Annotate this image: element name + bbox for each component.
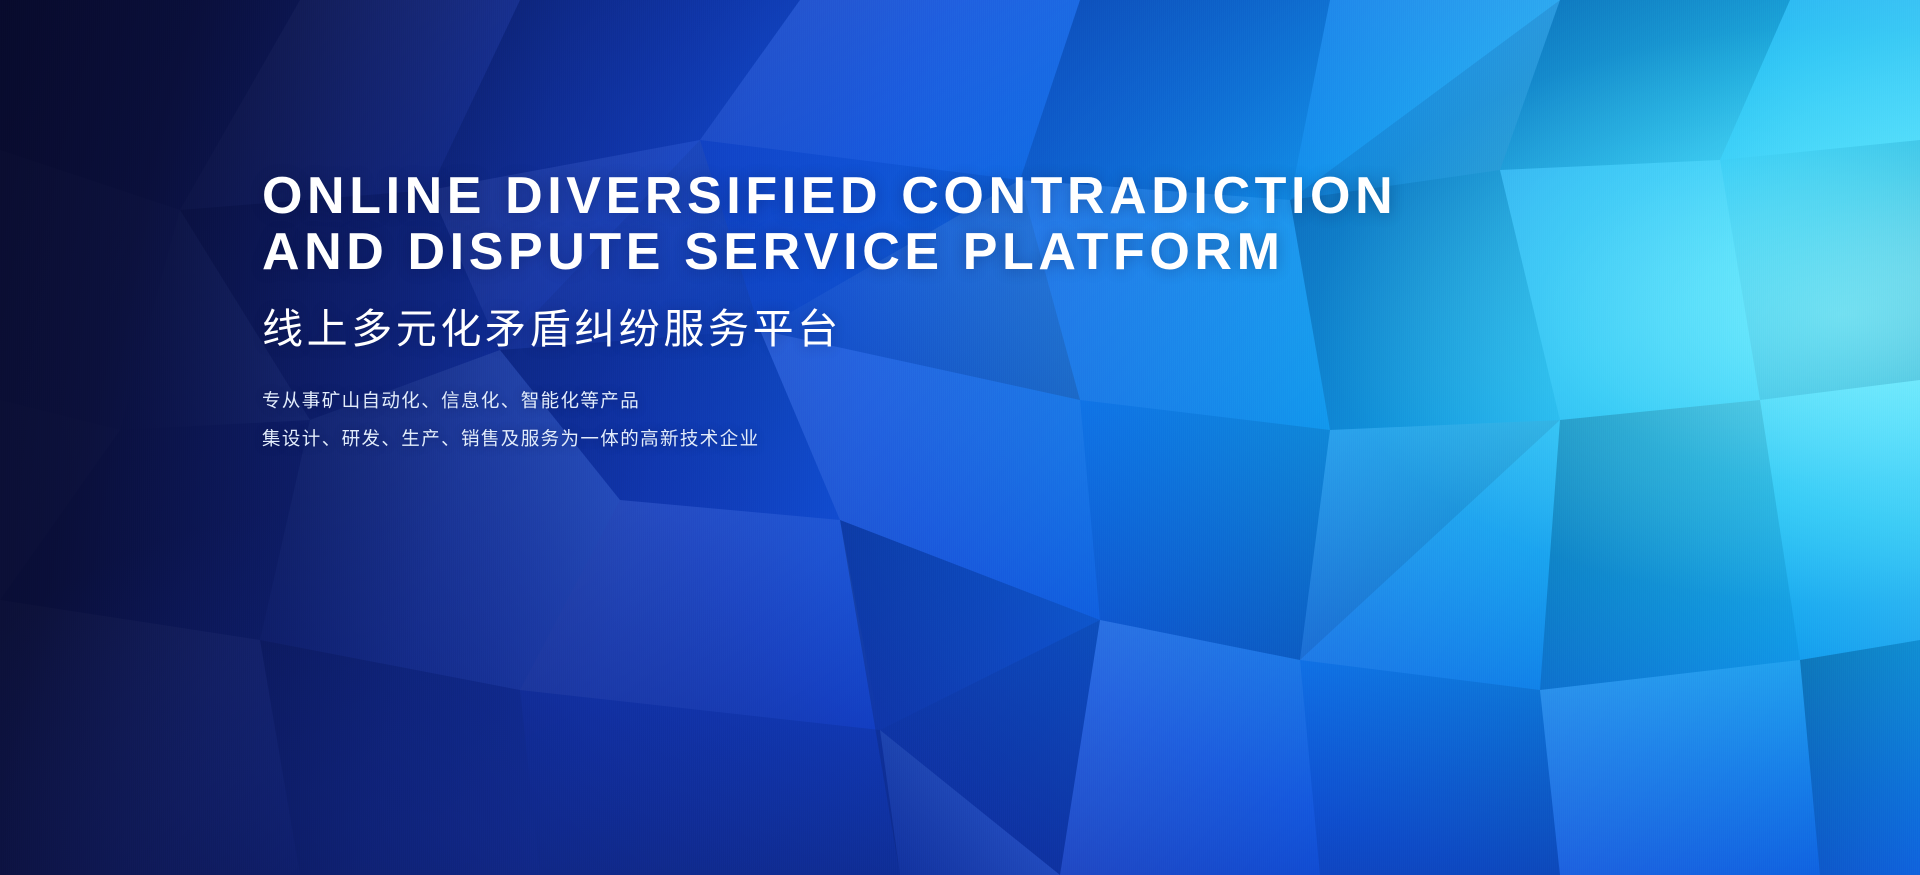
headline-chinese: 线上多元化矛盾纠纷服务平台 (262, 306, 1562, 352)
headline-english: ONLINE DIVERSIFIED CONTRADICTION AND DIS… (262, 168, 1562, 280)
description-block: 专从事矿山自动化、信息化、智能化等产品 集设计、研发、生产、销售及服务为一体的高… (262, 388, 1562, 452)
description-line-2: 集设计、研发、生产、销售及服务为一体的高新技术企业 (262, 426, 1562, 452)
banner-content: ONLINE DIVERSIFIED CONTRADICTION AND DIS… (262, 168, 1562, 452)
hero-banner: ONLINE DIVERSIFIED CONTRADICTION AND DIS… (0, 0, 1920, 875)
description-line-1: 专从事矿山自动化、信息化、智能化等产品 (262, 388, 1562, 414)
